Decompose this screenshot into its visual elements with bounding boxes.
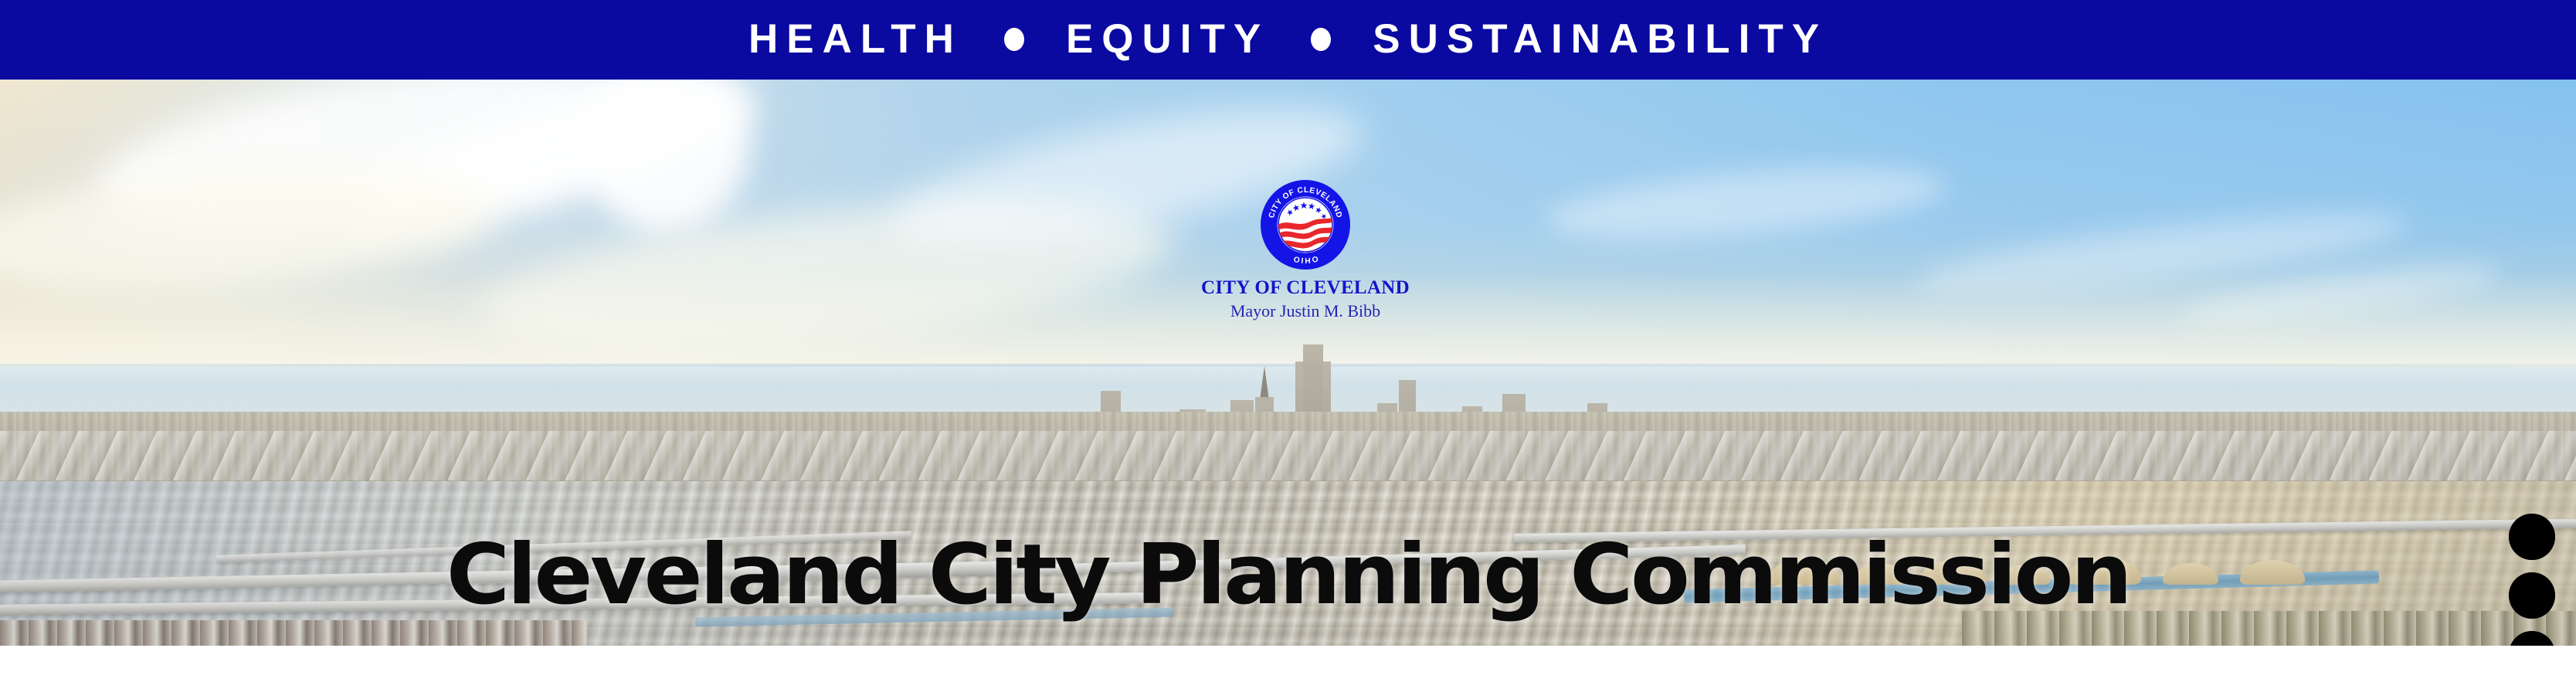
city-of-cleveland-seal-icon: CITY OF CLEVELAND OHIO xyxy=(1259,178,1352,271)
tagline-word-equity: EQUITY xyxy=(1066,19,1269,59)
top-tagline-banner: HEALTH EQUITY SUSTAINABILITY xyxy=(0,0,2576,80)
instagram-link[interactable] xyxy=(2509,572,2555,619)
midground-snow xyxy=(0,431,2576,480)
page-background-below-photo xyxy=(0,646,2576,682)
tagline-separator-dot-1 xyxy=(1004,28,1024,51)
seal-title: CITY OF CLEVELAND xyxy=(1159,278,1452,297)
page-title: Cleveland City Planning Commission xyxy=(0,534,2576,617)
hero-photo: CITY OF CLEVELAND OHIO CITY OF CLEVELAND… xyxy=(0,80,2576,646)
youtube-link[interactable] xyxy=(2509,514,2555,560)
tagline-separator-dot-2 xyxy=(1311,28,1331,51)
instagram-icon xyxy=(2509,572,2555,619)
youtube-icon xyxy=(2509,514,2555,560)
facebook-icon xyxy=(2509,631,2555,646)
seal-subtitle-mayor: Mayor Justin M. Bibb xyxy=(1159,303,1452,320)
tagline-word-sustainability: SUSTAINABILITY xyxy=(1373,19,1828,59)
city-seal-block: CITY OF CLEVELAND OHIO CITY OF CLEVELAND… xyxy=(1159,178,1452,320)
facebook-link[interactable] xyxy=(2509,631,2555,646)
tagline-strip: HEALTH EQUITY SUSTAINABILITY xyxy=(748,19,1828,59)
social-links-rail xyxy=(2509,514,2557,646)
tagline-word-health: HEALTH xyxy=(748,19,962,59)
